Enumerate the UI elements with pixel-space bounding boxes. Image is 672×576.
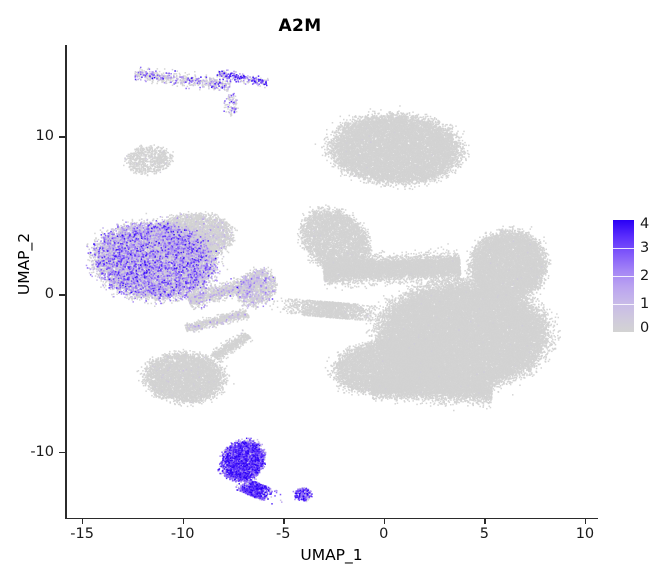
x-tick-mark xyxy=(283,518,284,524)
colorbar-tick-label: 4 xyxy=(640,216,649,232)
y-tick-label: -10 xyxy=(0,444,54,460)
colorbar-legend: 43210 xyxy=(613,220,669,332)
colorbar-tick-label: 2 xyxy=(640,268,649,284)
colorbar-tick-mark xyxy=(613,304,634,305)
x-tick-label: -5 xyxy=(276,526,290,542)
umap-feature-plot: A2M -15-10-50510 100-10 UMAP_1 UMAP_2 43… xyxy=(0,0,672,576)
y-tick-mark xyxy=(59,452,65,453)
y-axis-line xyxy=(65,45,67,519)
x-tick-label: 0 xyxy=(379,526,388,542)
y-axis-label: UMAP_2 xyxy=(15,154,33,374)
scatter-canvas xyxy=(66,45,597,518)
x-tick-mark xyxy=(82,518,83,524)
x-tick-mark xyxy=(484,518,485,524)
colorbar-tick-mark xyxy=(613,248,634,249)
y-tick-label: 10 xyxy=(0,128,54,144)
colorbar-tick-label: 1 xyxy=(640,296,649,312)
page-title: A2M xyxy=(0,16,600,36)
x-axis-label: UMAP_1 xyxy=(66,546,597,564)
x-tick-label: 10 xyxy=(576,526,594,542)
x-tick-mark xyxy=(183,518,184,524)
x-tick-label: -10 xyxy=(171,526,195,542)
colorbar-tick-label: 3 xyxy=(640,240,649,256)
x-tick-mark xyxy=(585,518,586,524)
y-tick-mark xyxy=(59,294,65,295)
x-tick-mark xyxy=(384,518,385,524)
x-axis-line xyxy=(65,518,598,520)
colorbar-tick-label: 0 xyxy=(640,320,649,336)
x-tick-label: -15 xyxy=(70,526,94,542)
x-tick-label: 5 xyxy=(480,526,489,542)
colorbar-tick-mark xyxy=(613,276,634,277)
y-tick-mark xyxy=(59,136,65,137)
plot-panel xyxy=(66,45,597,518)
